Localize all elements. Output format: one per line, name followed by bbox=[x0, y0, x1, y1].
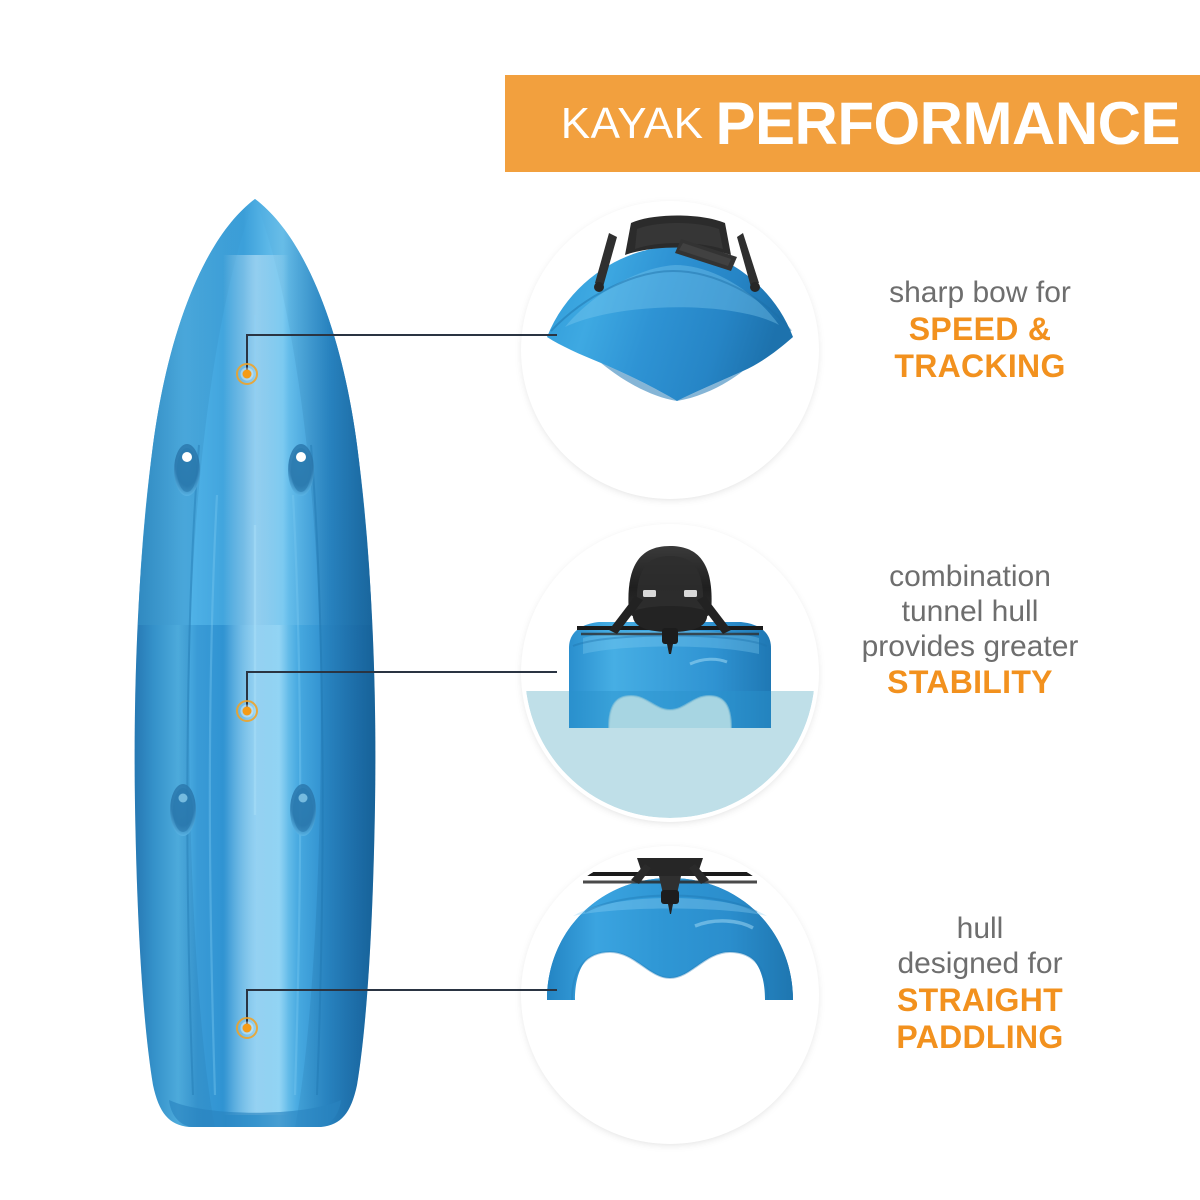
scupper-hole-upper-right bbox=[288, 444, 314, 496]
callout-straight-line-2: STRAIGHT bbox=[830, 982, 1130, 1019]
callout-stability-line-1: tunnel hull bbox=[820, 595, 1120, 630]
callout-text-stability: combination tunnel hull provides greater… bbox=[820, 560, 1120, 702]
callout-text-straight-paddling: hull designed for STRAIGHT PADDLING bbox=[830, 912, 1130, 1056]
infographic-canvas: KAYAK PERFORMANCE bbox=[0, 0, 1200, 1200]
callout-straight-line-1: designed for bbox=[830, 947, 1130, 982]
scupper-hole-lower-right bbox=[290, 784, 316, 836]
callout-bow-line-0: sharp bow for bbox=[830, 276, 1130, 311]
scupper-hole-lower-left bbox=[170, 784, 196, 836]
kayak-bottom-view-image bbox=[95, 195, 415, 1130]
callout-straight-line-0: hull bbox=[830, 912, 1130, 947]
callout-straight-line-3: PADDLING bbox=[830, 1019, 1130, 1056]
header-banner: KAYAK PERFORMANCE bbox=[505, 75, 1200, 172]
header-title-bold: PERFORMANCE bbox=[715, 94, 1180, 154]
callout-bow-line-1: SPEED & bbox=[830, 311, 1130, 348]
callout-stability-line-2: provides greater bbox=[820, 630, 1120, 665]
callout-stability-line-3: STABILITY bbox=[820, 664, 1120, 701]
scupper-hole-upper-left bbox=[174, 444, 200, 496]
header-title-light: KAYAK bbox=[561, 102, 704, 146]
callout-bow-line-2: TRACKING bbox=[830, 348, 1130, 385]
callout-text-bow: sharp bow for SPEED & TRACKING bbox=[830, 276, 1130, 385]
tunnel-hull-detail-circle bbox=[525, 528, 815, 818]
stern-hull-detail-circle bbox=[525, 850, 815, 1140]
bow-detail-circle bbox=[525, 205, 815, 495]
callout-stability-line-0: combination bbox=[820, 560, 1120, 595]
